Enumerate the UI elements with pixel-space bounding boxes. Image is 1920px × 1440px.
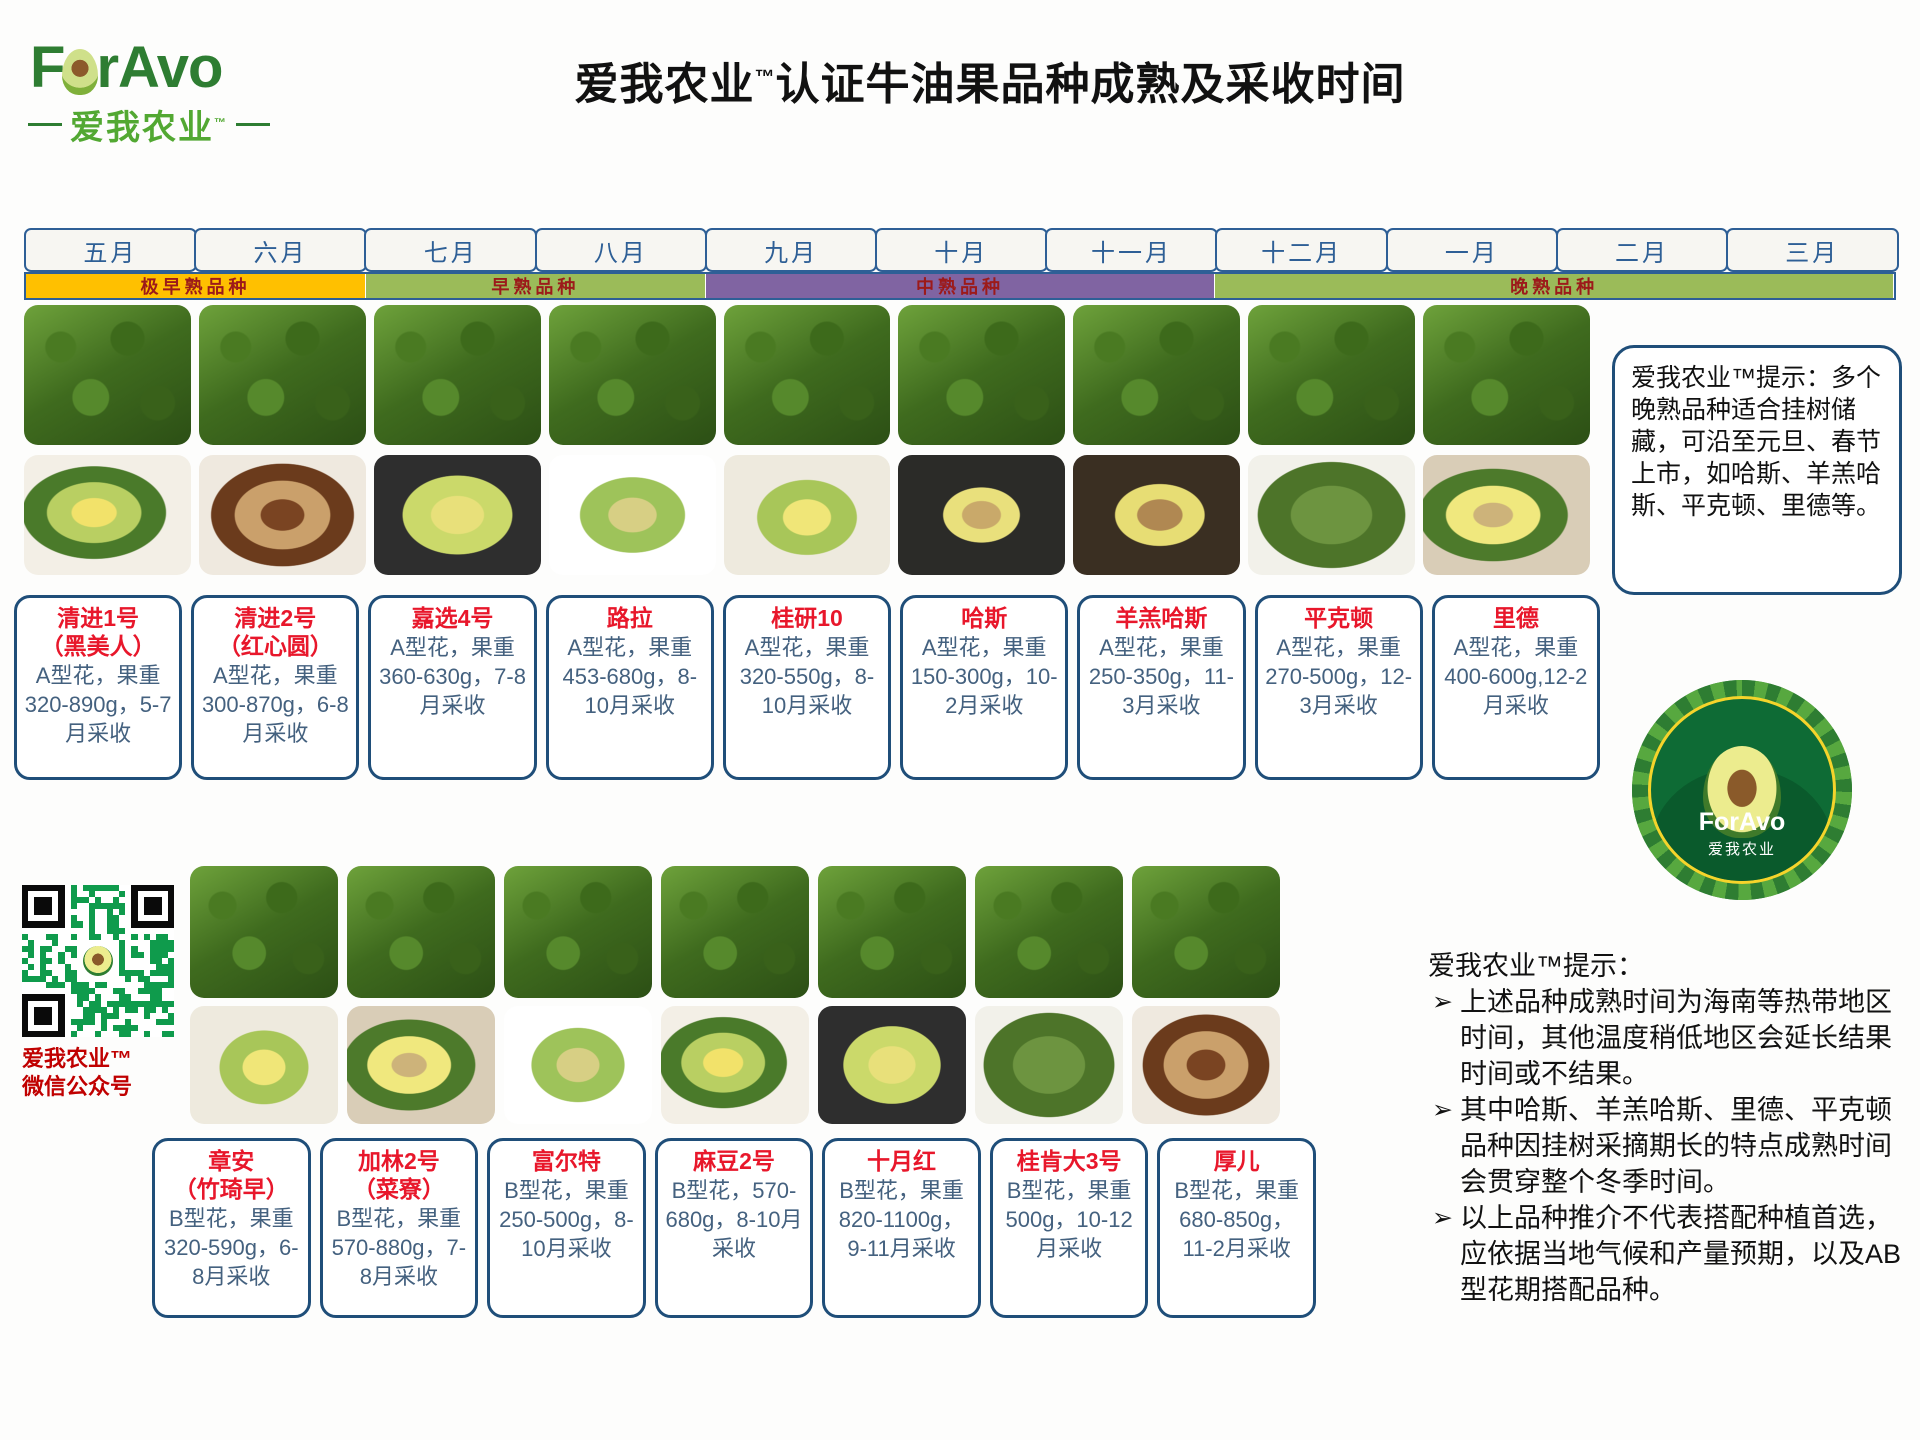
seal-inner: ForAvo 爱我农业 bbox=[1648, 696, 1836, 884]
variety-card[interactable]: 羊羔哈斯A型花，果重250-350g，11-3月采收 bbox=[1077, 595, 1245, 780]
fruit-photo-11 bbox=[347, 1006, 495, 1124]
tip-list-item: ➢上述品种成熟时间为海南等热带地区时间，其他温度稍低地区会延长结果时间或不结果。 bbox=[1428, 984, 1914, 1092]
logo-wordmark: FrAvo bbox=[24, 38, 294, 98]
variety-card[interactable]: 路拉A型花，果重453-680g，8-10月采收 bbox=[546, 595, 714, 780]
page-title-pre: 爱我农业 bbox=[575, 60, 755, 109]
variety-description: A型花，果重320-550g，8-10月采收 bbox=[730, 633, 884, 720]
logo-chinese-name: 爱我农业™ bbox=[70, 100, 228, 149]
variety-description: A型花，果重453-680g，8-10月采收 bbox=[553, 633, 707, 720]
tip-box-late-varieties: 爱我农业™提示：多个晚熟品种适合挂树储藏，可沿至元旦、春节上市，如哈斯、羊羔哈斯… bbox=[1612, 345, 1902, 595]
variety-name: 加林2号 （菜寮） bbox=[353, 1147, 445, 1203]
variety-name: 路拉 bbox=[607, 604, 653, 632]
logo-wordmark-post: rAvo bbox=[96, 35, 222, 100]
page-title-tm: ™ bbox=[755, 66, 776, 88]
wechat-qr-block: 爱我农业™ 微信公众号 bbox=[22, 885, 192, 1101]
fruit-photo-4 bbox=[549, 455, 716, 575]
variety-description: B型花，570-680g，8-10月采收 bbox=[662, 1176, 807, 1263]
fruit-photo-9 bbox=[1423, 455, 1590, 575]
row-b-fruit-photos bbox=[190, 1006, 1280, 1124]
fruit-photo-15 bbox=[975, 1006, 1123, 1124]
month-cell-4: 八月 bbox=[535, 228, 708, 272]
row-b-variety-cards: 章安 （竹琦早）B型花，果重320-590g，6-8月采收加林2号 （菜寮）B型… bbox=[152, 1138, 1316, 1318]
month-cell-7: 十一月 bbox=[1045, 228, 1218, 272]
tip-list-item: ➢以上品种推介不代表搭配种植首选，应依据当地气候和产量预期，以及AB型花期搭配品… bbox=[1428, 1200, 1914, 1308]
row-a-tree-photos bbox=[24, 305, 1590, 445]
tip-list-notes: 爱我农业™提示： ➢上述品种成熟时间为海南等热带地区时间，其他温度稍低地区会延长… bbox=[1428, 948, 1914, 1308]
fruit-photo-13 bbox=[661, 1006, 809, 1124]
month-cell-10: 二月 bbox=[1556, 228, 1729, 272]
logo-dash-left bbox=[28, 123, 62, 126]
tree-photo-5 bbox=[724, 305, 891, 445]
variety-card[interactable]: 十月红B型花，果重820-1100g，9-11月采收 bbox=[822, 1138, 981, 1318]
fruit-photo-1 bbox=[24, 455, 191, 575]
variety-name: 章安 （竹琦早） bbox=[174, 1147, 289, 1203]
tree-photo-8 bbox=[1248, 305, 1415, 445]
tree-photo-6 bbox=[898, 305, 1065, 445]
month-cell-8: 十二月 bbox=[1215, 228, 1388, 272]
variety-description: A型花，果重250-350g，11-3月采收 bbox=[1084, 633, 1238, 720]
variety-name: 富尔特 bbox=[532, 1147, 601, 1175]
month-cell-3: 七月 bbox=[364, 228, 537, 272]
variety-card[interactable]: 清进2号 （红心圆）A型花，果重300-870g，6-8月采收 bbox=[191, 595, 359, 780]
variety-card[interactable]: 厚儿B型花，果重680-850g，11-2月采收 bbox=[1157, 1138, 1316, 1318]
fruit-photo-3 bbox=[374, 455, 541, 575]
month-cell-6: 十月 bbox=[875, 228, 1048, 272]
month-timeline: 五月六月七月八月九月十月十一月十二月一月二月三月 bbox=[24, 228, 1896, 272]
tip-text: 上述品种成熟时间为海南等热带地区时间，其他温度稍低地区会延长结果时间或不结果。 bbox=[1460, 987, 1892, 1089]
fruit-photo-5 bbox=[724, 455, 891, 575]
variety-description: B型花，果重820-1100g，9-11月采收 bbox=[829, 1176, 974, 1263]
tip-list-item: ➢其中哈斯、羊羔哈斯、里德、平克顿品种因挂树采摘期长的特点成熟时间会贯穿整个冬季… bbox=[1428, 1092, 1914, 1200]
fruit-photo-10 bbox=[190, 1006, 338, 1124]
variety-description: A型花，果重270-500g，12-3月采收 bbox=[1262, 633, 1416, 720]
tip-list: ➢上述品种成熟时间为海南等热带地区时间，其他温度稍低地区会延长结果时间或不结果。… bbox=[1428, 984, 1914, 1308]
variety-name: 清进1号 （黑美人） bbox=[41, 604, 156, 660]
tree-photo-1 bbox=[24, 305, 191, 445]
tree-photo-11 bbox=[347, 866, 495, 998]
variety-description: A型花，果重150-300g，10-2月采收 bbox=[907, 633, 1061, 720]
seal-word-en: ForAvo bbox=[1651, 808, 1833, 837]
tree-photo-4 bbox=[549, 305, 716, 445]
fruit-photo-12 bbox=[504, 1006, 652, 1124]
variety-description: A型花，果重320-890g，5-7月采收 bbox=[21, 661, 175, 748]
variety-description: A型花，果重360-630g，7-8月采收 bbox=[375, 633, 529, 720]
variety-name: 哈斯 bbox=[961, 604, 1007, 632]
variety-name: 十月红 bbox=[867, 1147, 936, 1175]
season-band-2: 早熟品种 bbox=[366, 274, 706, 298]
variety-description: B型花，果重250-500g，8-10月采收 bbox=[494, 1176, 639, 1263]
foravo-logo: FrAvo 爱我农业™ bbox=[24, 38, 294, 148]
tree-photo-12 bbox=[504, 866, 652, 998]
variety-name: 平克顿 bbox=[1304, 604, 1373, 632]
logo-tm: ™ bbox=[214, 116, 228, 130]
variety-name: 清进2号 （红心圆） bbox=[218, 604, 333, 660]
page-title: 爱我农业™认证牛油果品种成熟及采收时间 bbox=[360, 48, 1620, 112]
variety-name: 麻豆2号 bbox=[693, 1147, 775, 1175]
variety-card[interactable]: 麻豆2号B型花，570-680g，8-10月采收 bbox=[655, 1138, 814, 1318]
tip-list-heading: 爱我农业™提示： bbox=[1428, 948, 1914, 984]
variety-card[interactable]: 里德A型花，果重400-600g,12-2月采收 bbox=[1432, 595, 1600, 780]
variety-name: 桂研10 bbox=[771, 604, 843, 632]
row-b-tree-photos bbox=[190, 866, 1280, 998]
foravo-seal-logo: ForAvo 爱我农业 bbox=[1632, 680, 1852, 900]
variety-card[interactable]: 嘉选4号A型花，果重360-630g，7-8月采收 bbox=[368, 595, 536, 780]
month-cell-2: 六月 bbox=[194, 228, 367, 272]
qr-code-image[interactable] bbox=[22, 885, 174, 1037]
month-cell-5: 九月 bbox=[705, 228, 878, 272]
variety-description: A型花，果重300-870g，6-8月采收 bbox=[198, 661, 352, 748]
fruit-photo-6 bbox=[898, 455, 1065, 575]
tree-photo-15 bbox=[975, 866, 1123, 998]
month-cell-9: 一月 bbox=[1386, 228, 1559, 272]
bullet-arrow-icon: ➢ bbox=[1432, 1200, 1453, 1236]
seal-word-cn: 爱我农业 bbox=[1651, 838, 1833, 859]
tree-photo-7 bbox=[1073, 305, 1240, 445]
variety-card[interactable]: 富尔特B型花，果重250-500g，8-10月采收 bbox=[487, 1138, 646, 1318]
variety-name: 厚儿 bbox=[1214, 1147, 1260, 1175]
tree-photo-2 bbox=[199, 305, 366, 445]
avocado-icon bbox=[62, 49, 98, 95]
variety-card[interactable]: 桂研10A型花，果重320-550g，8-10月采收 bbox=[723, 595, 891, 780]
variety-name: 里德 bbox=[1493, 604, 1539, 632]
row-a-fruit-photos bbox=[24, 455, 1590, 575]
qr-caption-line2: 微信公众号 bbox=[22, 1073, 192, 1101]
season-band-4: 晚熟品种 bbox=[1215, 274, 1894, 298]
variety-description: B型花，果重570-880g，7-8月采收 bbox=[327, 1204, 472, 1291]
variety-name: 羊羔哈斯 bbox=[1115, 604, 1207, 632]
month-cell-1: 五月 bbox=[24, 228, 197, 272]
fruit-photo-8 bbox=[1248, 455, 1415, 575]
variety-card[interactable]: 哈斯A型花，果重150-300g，10-2月采收 bbox=[900, 595, 1068, 780]
fruit-photo-14 bbox=[818, 1006, 966, 1124]
tree-photo-16 bbox=[1132, 866, 1280, 998]
season-timeline: 极早熟品种早熟品种中熟品种晚熟品种 bbox=[24, 272, 1896, 300]
seal-text: ForAvo 爱我农业 bbox=[1651, 808, 1833, 859]
tip-text: 其中哈斯、羊羔哈斯、里德、平克顿品种因挂树采摘期长的特点成熟时间会贯穿整个冬季时… bbox=[1460, 1095, 1892, 1197]
variety-name: 嘉选4号 bbox=[412, 604, 494, 632]
logo-subline: 爱我农业™ bbox=[24, 100, 294, 149]
variety-description: B型花，果重320-590g，6-8月采收 bbox=[159, 1204, 304, 1291]
tree-photo-13 bbox=[661, 866, 809, 998]
tree-photo-3 bbox=[374, 305, 541, 445]
row-a-variety-cards: 清进1号 （黑美人）A型花，果重320-890g，5-7月采收清进2号 （红心圆… bbox=[14, 595, 1600, 780]
variety-card[interactable]: 清进1号 （黑美人）A型花，果重320-890g，5-7月采收 bbox=[14, 595, 182, 780]
season-band-3: 中熟品种 bbox=[706, 274, 1215, 298]
fruit-photo-16 bbox=[1132, 1006, 1280, 1124]
tip-text: 以上品种推介不代表搭配种植首选，应依据当地气候和产量预期，以及AB型花期搭配品种… bbox=[1460, 1203, 1901, 1305]
fruit-photo-7 bbox=[1073, 455, 1240, 575]
variety-card[interactable]: 加林2号 （菜寮）B型花，果重570-880g，7-8月采收 bbox=[320, 1138, 479, 1318]
variety-card[interactable]: 平克顿A型花，果重270-500g，12-3月采收 bbox=[1255, 595, 1423, 780]
season-band-1: 极早熟品种 bbox=[26, 274, 366, 298]
tree-photo-10 bbox=[190, 866, 338, 998]
bullet-arrow-icon: ➢ bbox=[1432, 1092, 1453, 1128]
variety-description: B型花，果重680-850g，11-2月采收 bbox=[1164, 1176, 1309, 1263]
month-cell-11: 三月 bbox=[1726, 228, 1899, 272]
tree-photo-14 bbox=[818, 866, 966, 998]
logo-dash-right bbox=[236, 123, 270, 126]
fruit-photo-2 bbox=[199, 455, 366, 575]
variety-description: A型花，果重400-600g,12-2月采收 bbox=[1439, 633, 1593, 720]
tree-photo-9 bbox=[1423, 305, 1590, 445]
qr-caption: 爱我农业™ 微信公众号 bbox=[22, 1045, 192, 1101]
variety-description: B型花，果重500g，10-12月采收 bbox=[997, 1176, 1142, 1263]
bullet-arrow-icon: ➢ bbox=[1432, 984, 1453, 1020]
page-header: FrAvo 爱我农业™ 爱我农业™认证牛油果品种成熟及采收时间 bbox=[0, 0, 1920, 170]
variety-name: 桂肯大3号 bbox=[1017, 1147, 1122, 1175]
variety-card[interactable]: 桂肯大3号B型花，果重500g，10-12月采收 bbox=[990, 1138, 1149, 1318]
qr-caption-line1: 爱我农业™ bbox=[22, 1045, 192, 1073]
page-title-post: 认证牛油果品种成熟及采收时间 bbox=[776, 60, 1406, 109]
logo-wordmark-pre: F bbox=[30, 35, 64, 100]
variety-card[interactable]: 章安 （竹琦早）B型花，果重320-590g，6-8月采收 bbox=[152, 1138, 311, 1318]
